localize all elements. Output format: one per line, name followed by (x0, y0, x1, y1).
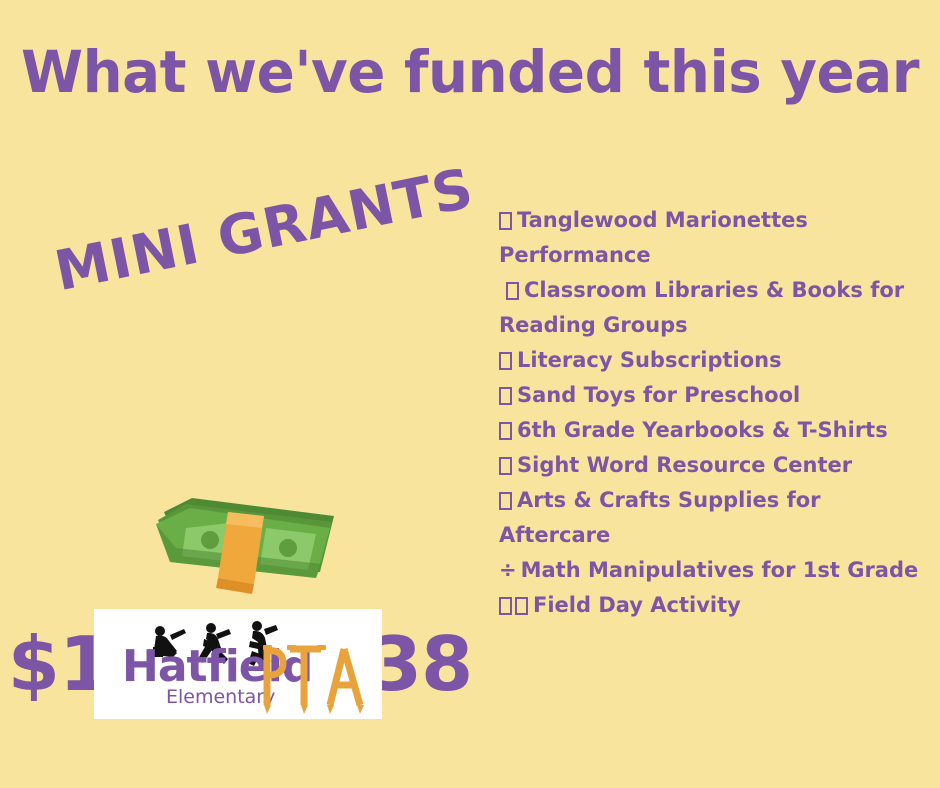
funded-item: ÷Math Manipulatives for 1st Grade (499, 553, 919, 588)
funded-item-label: Sight Word Resource Center (517, 453, 852, 477)
pta-logo: Hatfield Elementary (94, 609, 382, 719)
missing-glyph-icon (506, 282, 519, 300)
svg-text:Elementary: Elementary (166, 686, 275, 708)
funded-item-label: Field Day Activity (533, 593, 741, 617)
funded-item: Literacy Subscriptions (499, 343, 919, 378)
mini-grants-heading: MINI GRANTS (49, 165, 434, 303)
missing-glyph-icon (499, 492, 512, 510)
missing-glyph-icon (499, 387, 512, 405)
missing-glyph-icon (515, 597, 528, 615)
funded-item-label: Math Manipulatives for 1st Grade (521, 558, 919, 582)
funded-items-list: Tanglewood Marionettes PerformanceClassr… (499, 203, 919, 623)
funded-item-label: Classroom Libraries & Books for Reading … (499, 278, 904, 337)
funded-item: Arts & Crafts Supplies for Aftercare (499, 483, 919, 553)
missing-glyph-icon (499, 352, 512, 370)
funded-item-label: Arts & Crafts Supplies for Aftercare (499, 488, 821, 547)
funded-item: Tanglewood Marionettes Performance (499, 203, 919, 273)
funded-item-label: 6th Grade Yearbooks & T-Shirts (517, 418, 888, 442)
poster-canvas: What we've funded this year MINI GRANTS (0, 0, 940, 788)
funded-item: Sand Toys for Preschool (499, 378, 919, 413)
missing-glyph-icon (499, 597, 512, 615)
funded-item-label: Sand Toys for Preschool (517, 383, 800, 407)
funded-item-label: Literacy Subscriptions (517, 348, 782, 372)
page-title: What we've funded this year (14, 42, 926, 103)
funded-item: Field Day Activity (499, 588, 919, 623)
division-sign-icon: ÷ (499, 558, 517, 582)
funded-item: 6th Grade Yearbooks & T-Shirts (499, 413, 919, 448)
money-stack-icon (146, 476, 342, 596)
funded-item: Sight Word Resource Center (499, 448, 919, 483)
funded-item: Classroom Libraries & Books for Reading … (499, 273, 919, 343)
missing-glyph-icon (499, 422, 512, 440)
missing-glyph-icon (499, 212, 512, 230)
missing-glyph-icon (499, 457, 512, 475)
funded-item-label: Tanglewood Marionettes Performance (499, 208, 808, 267)
